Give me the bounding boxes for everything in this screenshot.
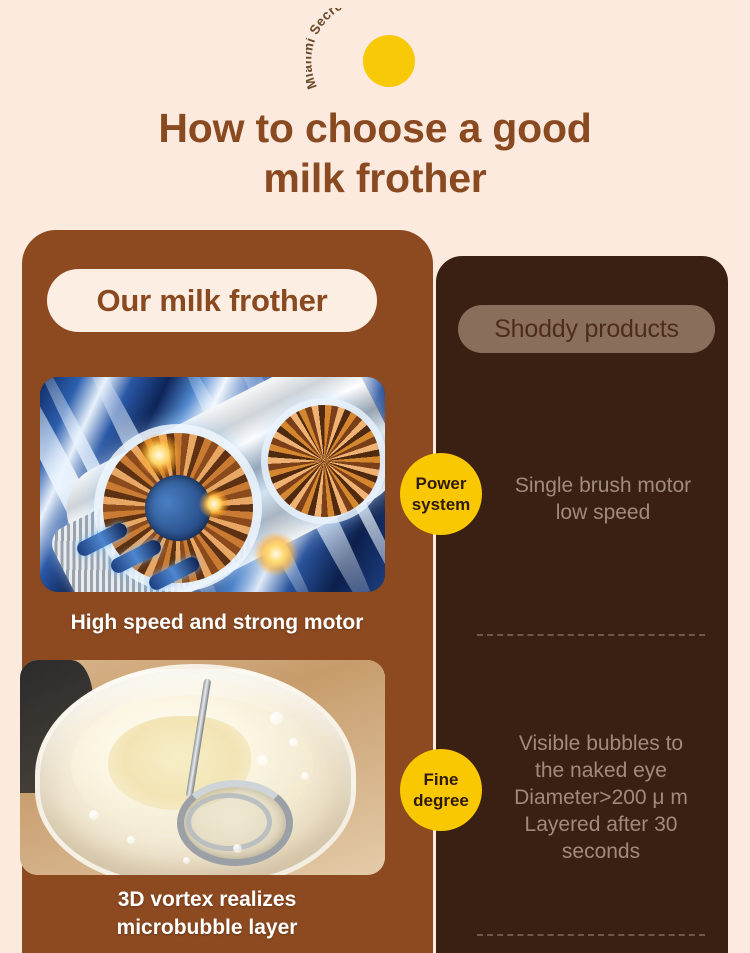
- spark-glow: [137, 433, 181, 477]
- fine-degree-badge: Fine degree: [400, 749, 482, 831]
- shoddy-power-text: Single brush motor low speed: [478, 472, 728, 526]
- shoddy-fineness-text: Visible bubbles to the naked eye Diamete…: [472, 730, 730, 865]
- logo-arc-text: Mianmi Secret Scripi: [306, 8, 446, 100]
- foam-bubble: [233, 844, 242, 853]
- infographic-page: Mianmi Secret Scripi How to choose a goo…: [0, 0, 750, 953]
- foam-bubble: [270, 712, 283, 725]
- milk-caption-line-2: microbubble layer: [22, 914, 392, 942]
- motor-caption: High speed and strong motor: [22, 609, 412, 636]
- shoddy-fineness-line-3: Diameter>200 μ m: [472, 784, 730, 811]
- our-milk-frother-header-pill: Our milk frother: [47, 269, 377, 332]
- fine-degree-badge-line-1: Fine: [424, 769, 459, 790]
- milk-caption-line-1: 3D vortex realizes: [22, 886, 392, 914]
- foam-bubble: [301, 772, 309, 780]
- power-system-badge-line-1: Power: [415, 473, 466, 494]
- power-system-badge-line-2: system: [412, 494, 471, 515]
- shoddy-fineness-line-5: seconds: [472, 838, 730, 865]
- title-line-1: How to choose a good: [0, 103, 750, 153]
- title-line-2: milk frother: [0, 153, 750, 203]
- spark-glow: [199, 489, 229, 519]
- power-system-badge: Power system: [400, 453, 482, 535]
- page-title: How to choose a good milk frother: [0, 103, 750, 203]
- shoddy-fineness-line-4: Layered after 30: [472, 811, 730, 838]
- foam-bubble: [289, 738, 298, 747]
- logo-text: Mianmi Secret Scripi: [306, 8, 395, 91]
- shoddy-fineness-line-2: the naked eye: [472, 757, 730, 784]
- whisk-coil-inner: [186, 793, 272, 851]
- brand-logo: Mianmi Secret Scripi: [306, 8, 446, 100]
- shoddy-power-line-2: low speed: [478, 499, 728, 526]
- glass-cup: [35, 664, 356, 875]
- shoddy-fineness-line-1: Visible bubbles to: [472, 730, 730, 757]
- spark-glow: [254, 532, 298, 576]
- foam-bubble: [127, 836, 135, 844]
- milk-photo: [20, 660, 385, 875]
- shoddy-power-line-1: Single brush motor: [478, 472, 728, 499]
- shoddy-products-label: Shoddy products: [494, 315, 679, 344]
- fine-degree-badge-line-2: degree: [413, 790, 469, 811]
- foam-bubble: [183, 857, 190, 864]
- milk-caption: 3D vortex realizes microbubble layer: [22, 886, 392, 942]
- our-milk-frother-label: Our milk frother: [96, 283, 327, 319]
- foam-bubble: [89, 810, 99, 820]
- section-divider: [477, 634, 705, 636]
- section-divider: [477, 934, 705, 936]
- shoddy-products-header-pill: Shoddy products: [458, 305, 715, 353]
- motor-photo: [40, 377, 385, 592]
